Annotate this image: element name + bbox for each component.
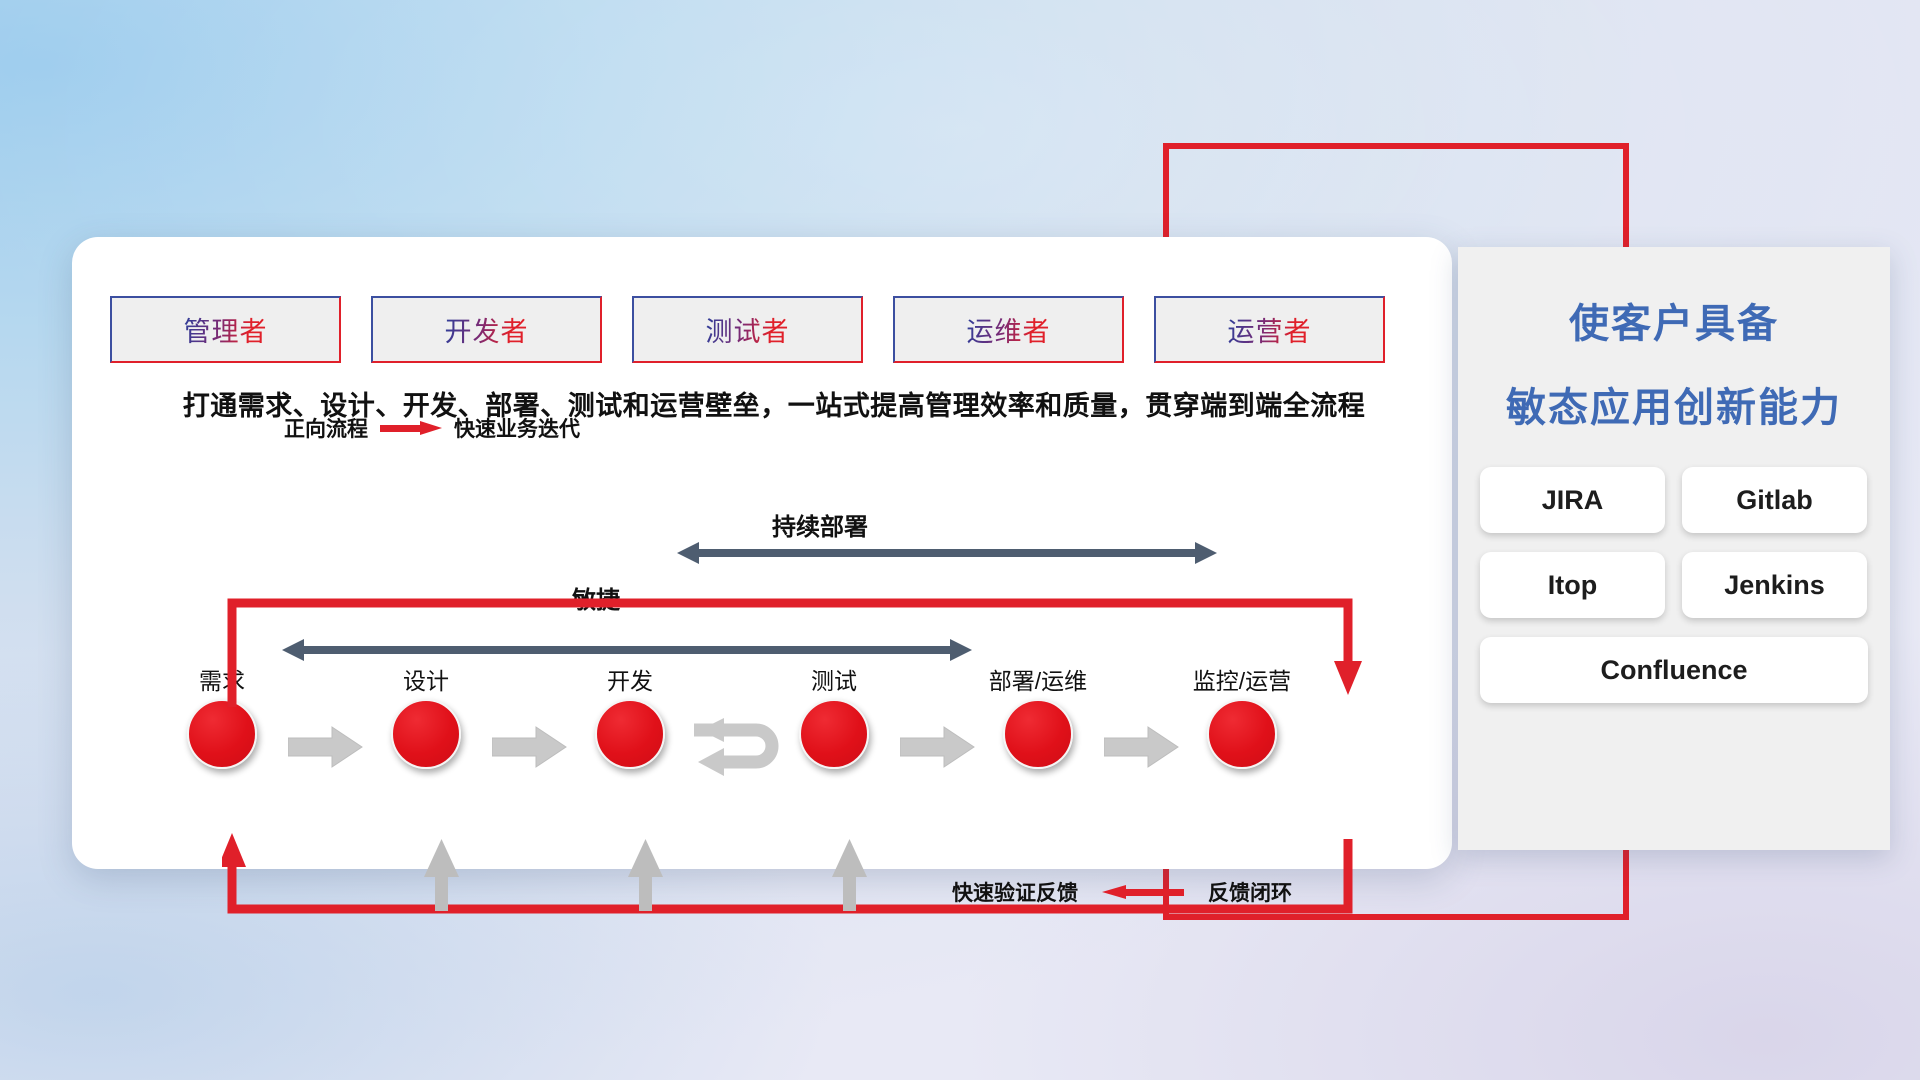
panel-heading-line1: 使客户具备 [1458,291,1890,349]
role-chip-label: 开发者 [445,310,529,349]
stage-development[interactable]: 开发 [575,662,685,769]
chevron-arrow-right-icon [900,725,976,769]
stage-monitor-operations[interactable]: 监控/运营 [1187,662,1297,769]
stage-dot-icon [595,699,665,769]
role-chip-tester[interactable]: 测试者 [632,296,863,363]
stage-label: 需求 [167,662,277,696]
stage-label: 监控/运营 [1187,662,1297,696]
continuous-deploy-label: 持续部署 [772,507,868,542]
arrow-left-red-icon [1102,885,1184,899]
pipeline-row: 需求 设计 开发 测试 部署/运维 [112,662,1412,802]
feedback-right-label: 反馈闭环 [1208,877,1292,907]
forward-flow-right-label: 快速业务迭代 [454,413,580,443]
forward-flow-left-label: 正向流程 [284,413,368,443]
capability-panel: 使客户具备 敏态应用创新能力 JIRA Gitlab Itop Jenkins … [1458,247,1890,850]
stage-label: 测试 [779,662,889,696]
tool-chip-gitlab[interactable]: Gitlab [1682,467,1867,533]
role-chip-label: 运维者 [967,310,1051,349]
agile-label: 敏捷 [572,580,620,615]
devops-flow-card: 管理者 开发者 测试者 运维者 运营者 打通需求、设计、开发、部署、测试和运营壁… [72,237,1452,869]
tool-chip-label: Confluence [1600,655,1747,686]
arrow-shaft [697,549,1197,557]
stage-label: 部署/运维 [983,662,1093,696]
tool-chip-jenkins[interactable]: Jenkins [1682,552,1867,618]
chevron-arrow-right-icon [1104,725,1180,769]
stage-dot-icon [187,699,257,769]
stage-dot-icon [1003,699,1073,769]
role-chip-label: 测试者 [706,310,790,349]
stage-label: 设计 [371,662,481,696]
role-chip-manager[interactable]: 管理者 [110,296,341,363]
continuous-deploy-span-arrow-icon [677,542,1217,564]
arrow-right-tip-icon [1195,542,1217,564]
tool-chip-label: Gitlab [1736,485,1813,516]
tool-chip-label: JIRA [1542,485,1604,516]
role-chip-row: 管理者 开发者 测试者 运维者 运营者 [110,296,1385,363]
arrow-left-tip-icon [677,542,699,564]
panel-heading-line2: 敏态应用创新能力 [1458,375,1890,433]
role-chip-label: 运营者 [1228,310,1312,349]
role-chip-developer[interactable]: 开发者 [371,296,602,363]
tool-chip-jira[interactable]: JIRA [1480,467,1665,533]
tool-chip-label: Itop [1548,570,1597,601]
stage-dot-icon [1207,699,1277,769]
arrow-shaft [302,646,952,654]
arrow-right-red-icon [380,421,442,435]
stage-design[interactable]: 设计 [371,662,481,769]
chevron-arrow-right-icon [492,725,568,769]
stage-dot-icon [391,699,461,769]
arrow-right-tip-icon [950,639,972,661]
chevron-arrow-right-icon [288,725,364,769]
arrow-left-tip-icon [282,639,304,661]
stage-testing[interactable]: 测试 [779,662,889,769]
tool-chip-grid: JIRA Gitlab Itop Jenkins Confluence [1480,467,1868,703]
stage-deploy-ops[interactable]: 部署/运维 [983,662,1093,769]
feedback-left-label: 快速验证反馈 [952,877,1078,907]
stage-requirements[interactable]: 需求 [167,662,277,769]
stage-dot-icon [799,699,869,769]
tool-chip-label: Jenkins [1724,570,1825,601]
forward-flow-legend: 正向流程 快速业务迭代 [284,413,580,443]
tool-chip-itop[interactable]: Itop [1480,552,1665,618]
role-chip-label: 管理者 [184,310,268,349]
agile-span-arrow-icon [282,639,972,661]
role-chip-ops[interactable]: 运维者 [893,296,1124,363]
tool-chip-confluence[interactable]: Confluence [1480,637,1868,703]
stage-label: 开发 [575,662,685,696]
role-chip-operations[interactable]: 运营者 [1154,296,1385,363]
feedback-loop-legend: 快速验证反馈 反馈闭环 [952,877,1292,907]
